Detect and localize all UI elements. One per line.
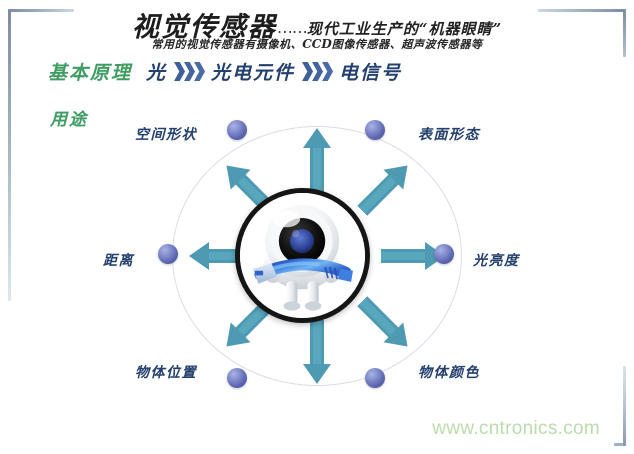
usage-label-distance: 距离	[103, 250, 134, 270]
center-circle	[235, 188, 370, 323]
principle-step-3: 电信号	[339, 58, 402, 85]
usage-heading: 用途	[50, 105, 88, 130]
chevron-arrow-icon-1	[174, 62, 204, 81]
usage-label-object-color: 物体颜色	[418, 362, 480, 382]
usage-label-surface-form: 表面形态	[418, 124, 480, 144]
principle-heading: 基本原理	[48, 58, 132, 85]
chevron-arrow-icon-2	[302, 62, 332, 81]
usage-node-brightness[interactable]	[434, 244, 454, 264]
watermark: www.cntronics.com	[432, 418, 600, 440]
chevron-icon	[174, 62, 185, 81]
usage-node-object-position[interactable]	[227, 368, 247, 388]
chevron-icon	[302, 62, 313, 81]
usage-label-brightness: 光亮度	[473, 250, 520, 270]
principle-flow: 基本原理 光 光电元件 电信号	[48, 58, 402, 85]
subtitle-ccd-term: CCD	[302, 37, 332, 51]
usage-node-object-color[interactable]	[365, 368, 385, 388]
principle-step-2: 光电元件	[211, 58, 295, 85]
usage-label-object-position: 物体位置	[135, 362, 197, 382]
usage-label-spatial-shape: 空间形状	[135, 124, 197, 144]
principle-step-1: 光	[146, 58, 167, 85]
chevron-icon	[184, 62, 195, 81]
subtitle: 常用的视觉传感器有摄像机、CCD图像传感器、超声波传感器等	[0, 36, 634, 52]
frame-corner-bottom-right-horizontal	[614, 443, 626, 446]
usage-node-spatial-shape[interactable]	[227, 120, 247, 140]
subtitle-prefix: 常用的视觉传感器有摄像机、	[151, 38, 302, 51]
usage-node-distance[interactable]	[158, 244, 178, 264]
chevron-icon	[312, 62, 323, 81]
chevron-icon	[322, 62, 333, 81]
camera-eye-robot-icon	[240, 193, 365, 318]
chevron-icon	[194, 62, 205, 81]
frame-corner-top-left-vertical	[8, 9, 11, 301]
title-ellipsis: ……	[277, 18, 307, 37]
usage-node-surface-form[interactable]	[365, 120, 385, 140]
slide-canvas: 视觉传感器……现代工业生产的“机器眼睛” 常用的视觉传感器有摄像机、CCD图像传…	[0, 0, 634, 454]
usage-radial-diagram	[152, 122, 482, 390]
subtitle-suffix: 图像传感器、超声波传感器等	[332, 38, 483, 51]
frame-corner-bottom-right-vertical	[623, 366, 626, 446]
